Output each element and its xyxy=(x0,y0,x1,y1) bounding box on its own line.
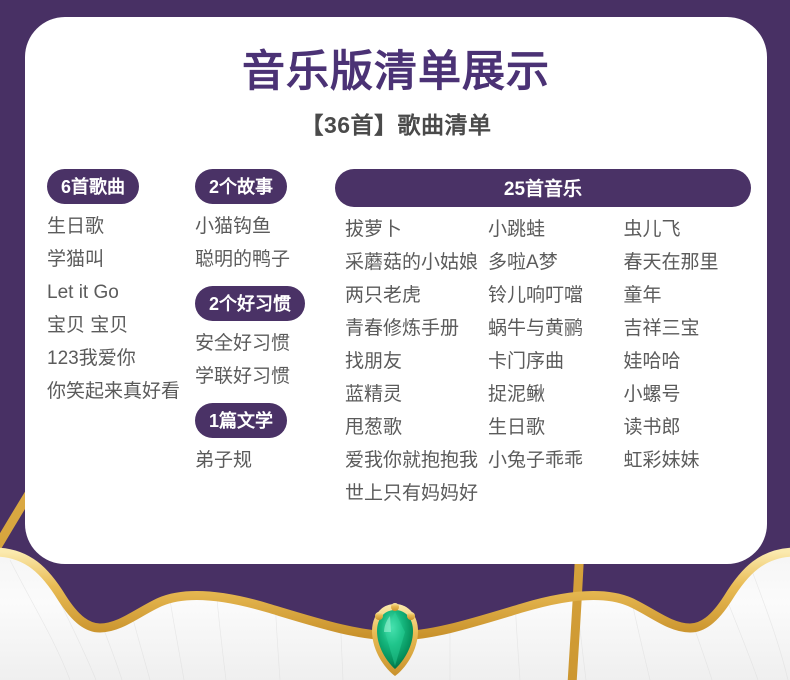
group-songs-head: 6首歌曲 xyxy=(47,169,195,204)
group-stories-list: 小猫钩鱼 聪明的鸭子 xyxy=(195,210,335,276)
list-item: 宝贝 宝贝 xyxy=(47,309,195,342)
list-item: 学联好习惯 xyxy=(195,360,335,393)
badge-habits: 2个好习惯 xyxy=(195,286,305,321)
gold-trim-right xyxy=(396,552,790,636)
list-item: 捉泥鳅 xyxy=(488,378,616,411)
list-item: 弟子规 xyxy=(195,444,335,477)
list-item: 你笑起来真好看 xyxy=(47,375,195,408)
music-subcolumn-2: 小跳蛙 多啦A梦 铃儿响叮噹 蜗牛与黄鹂 卡门序曲 捉泥鳅 生日歌 小兔子乖乖 xyxy=(478,213,616,510)
list-item: 聪明的鸭子 xyxy=(195,243,335,276)
list-item: 世上只有妈妈好 xyxy=(345,477,478,510)
list-item: 小螺号 xyxy=(624,378,752,411)
list-item: 娃哈哈 xyxy=(624,345,752,378)
group-stories-head: 2个故事 xyxy=(195,169,335,204)
column-songs: 6首歌曲 生日歌 学猫叫 Let it Go 宝贝 宝贝 123我爱你 你笑起来… xyxy=(25,169,195,418)
group-literature: 1篇文学 弟子规 xyxy=(195,403,335,477)
badge-literature: 1篇文学 xyxy=(195,403,287,438)
music-subcolumn-3: 虫儿飞 春天在那里 童年 吉祥三宝 娃哈哈 小螺号 读书郎 虹彩妹妹 xyxy=(616,213,752,510)
group-songs-list: 生日歌 学猫叫 Let it Go 宝贝 宝贝 123我爱你 你笑起来真好看 xyxy=(47,210,195,408)
list-columns: 6首歌曲 生日歌 学猫叫 Let it Go 宝贝 宝贝 123我爱你 你笑起来… xyxy=(25,169,767,510)
group-habits: 2个好习惯 安全好习惯 学联好习惯 xyxy=(195,286,335,393)
group-songs: 6首歌曲 生日歌 学猫叫 Let it Go 宝贝 宝贝 123我爱你 你笑起来… xyxy=(47,169,195,408)
list-item: 虹彩妹妹 xyxy=(624,444,752,477)
gem-prongs xyxy=(375,603,415,620)
list-item: 安全好习惯 xyxy=(195,327,335,360)
list-item: 学猫叫 xyxy=(47,243,195,276)
list-item: 甩葱歌 xyxy=(345,411,478,444)
list-item: 虫儿飞 xyxy=(624,213,752,246)
list-item: 吉祥三宝 xyxy=(624,312,752,345)
badge-songs: 6首歌曲 xyxy=(47,169,139,204)
list-item: Let it Go xyxy=(47,276,195,309)
list-item: 采蘑菇的小姑娘 xyxy=(345,246,478,279)
list-item: 小跳蛙 xyxy=(488,213,616,246)
list-item: 123我爱你 xyxy=(47,342,195,375)
group-literature-list: 弟子规 xyxy=(195,444,335,477)
group-literature-head: 1篇文学 xyxy=(195,403,335,438)
list-item: 春天在那里 xyxy=(624,246,752,279)
list-item: 铃儿响叮噹 xyxy=(488,279,616,312)
list-item: 两只老虎 xyxy=(345,279,478,312)
music-grid: 拔萝卜 采蘑菇的小姑娘 两只老虎 青春修炼手册 找朋友 蓝精灵 甩葱歌 爱我你就… xyxy=(335,213,751,510)
list-item: 爱我你就抱抱我 xyxy=(345,444,478,477)
column-stories: 2个故事 小猫钩鱼 聪明的鸭子 2个好习惯 安全好习惯 学联好习惯 1篇文学 xyxy=(195,169,335,487)
list-item: 蜗牛与黄鹂 xyxy=(488,312,616,345)
list-item: 小猫钩鱼 xyxy=(195,210,335,243)
badge-stories: 2个故事 xyxy=(195,169,287,204)
list-item: 童年 xyxy=(624,279,752,312)
curtain-folds xyxy=(10,560,788,680)
page-subtitle: 【36首】歌曲清单 xyxy=(25,96,767,140)
content-card: 音乐版清单展示 【36首】歌曲清单 6首歌曲 生日歌 学猫叫 Let it Go… xyxy=(25,17,767,564)
list-item: 小兔子乖乖 xyxy=(488,444,616,477)
list-item: 找朋友 xyxy=(345,345,478,378)
list-item: 生日歌 xyxy=(488,411,616,444)
music-subcolumn-1: 拔萝卜 采蘑菇的小姑娘 两只老虎 青春修炼手册 找朋友 蓝精灵 甩葱歌 爱我你就… xyxy=(335,213,478,510)
emerald-pear-gem xyxy=(372,603,418,676)
list-item: 卡门序曲 xyxy=(488,345,616,378)
gold-trim-left xyxy=(0,552,394,636)
list-item: 蓝精灵 xyxy=(345,378,478,411)
list-item: 拔萝卜 xyxy=(345,213,478,246)
list-item: 生日歌 xyxy=(47,210,195,243)
group-habits-head: 2个好习惯 xyxy=(195,286,335,321)
column-music: 25首音乐 拔萝卜 采蘑菇的小姑娘 两只老虎 青春修炼手册 找朋友 蓝精灵 甩葱… xyxy=(335,169,767,510)
group-stories: 2个故事 小猫钩鱼 聪明的鸭子 xyxy=(195,169,335,276)
list-item: 读书郎 xyxy=(624,411,752,444)
badge-music: 25首音乐 xyxy=(335,169,751,207)
list-item: 多啦A梦 xyxy=(488,246,616,279)
page-title: 音乐版清单展示 xyxy=(25,17,767,96)
list-item: 青春修炼手册 xyxy=(345,312,478,345)
group-habits-list: 安全好习惯 学联好习惯 xyxy=(195,327,335,393)
